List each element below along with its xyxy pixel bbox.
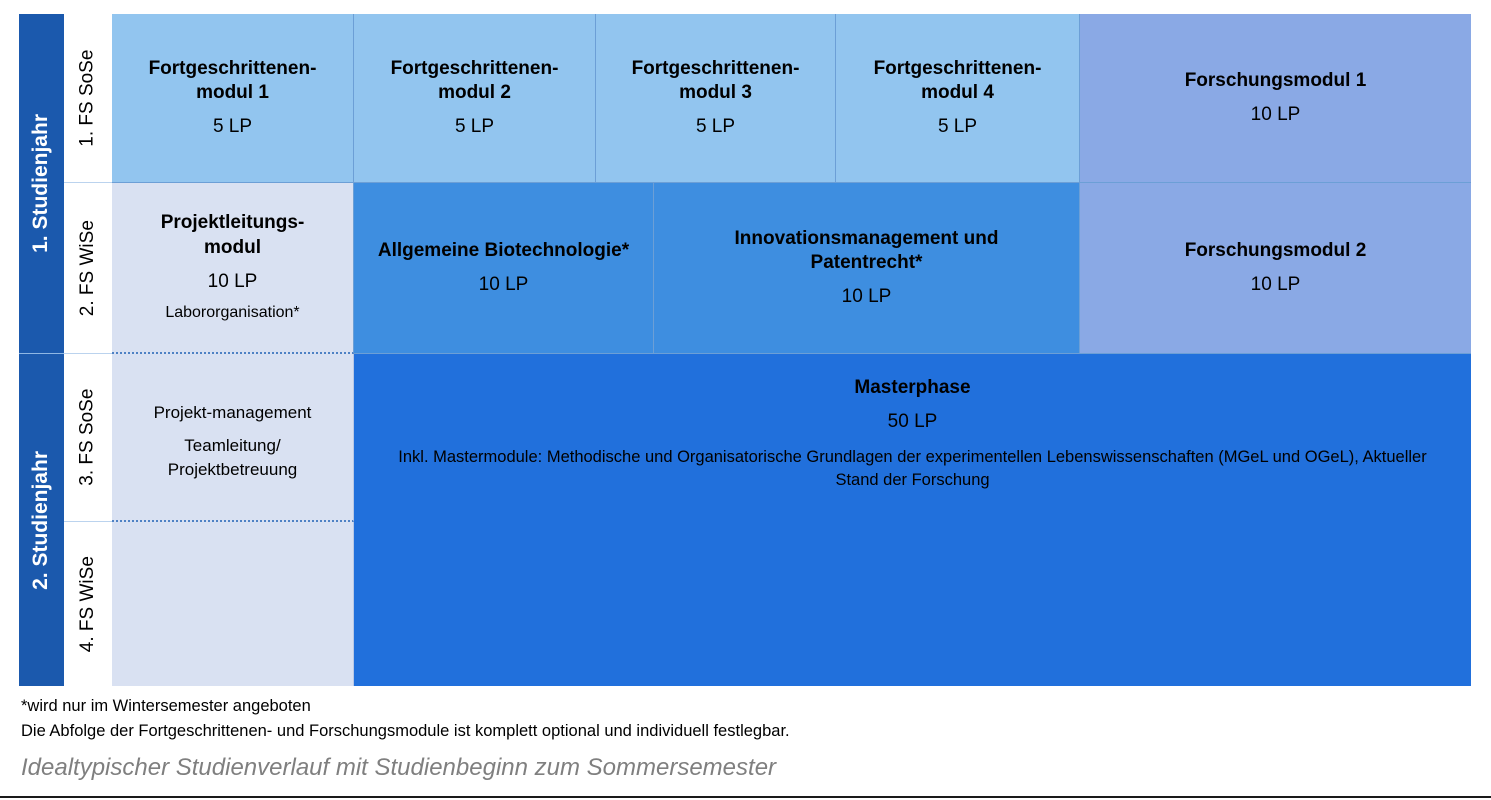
module-credits: 10 LP [834,285,900,309]
module-credits: 10 LP [1243,103,1309,127]
semester-label-2: 2. FS WiSe [64,183,112,354]
module-cell-projektmanagement[interactable]: Projekt-management Teamleitung/ Projektb… [112,354,354,522]
bottom-divider [0,796,1491,798]
module-title: Fortgeschrittenen- modul 3 [624,57,808,106]
footnote-line-2: Die Abfolge der Fortgeschrittenen- und F… [21,719,1421,744]
semester-label-2-text: 2. FS WiSe [76,220,100,316]
module-title: Masterphase [846,376,978,400]
chart-caption: Idealtypischer Studienverlauf mit Studie… [21,754,776,782]
module-title: Fortgeschrittenen- modul 2 [383,57,567,106]
module-cell-empty-bottom-left [112,522,354,686]
year-label-1-text: 1. Studienjahr [28,114,55,253]
module-credits: 10 LP [471,273,537,297]
projektmanagement-line-2: Teamleitung/ Projektbetreuung [154,434,311,482]
module-cell-fortgeschrittenenmodul-2[interactable]: Fortgeschrittenen- modul 2 5 LP [354,14,596,183]
study-plan-page: 1. Studienjahr 2. Studienjahr 1. FS SoSe… [0,0,1491,800]
module-cell-fortgeschrittenenmodul-4[interactable]: Fortgeschrittenen- modul 4 5 LP [836,14,1080,183]
module-credits: 5 LP [205,115,260,139]
year-label-2-text: 2. Studienjahr [28,451,55,590]
semester-label-1: 1. FS SoSe [64,14,112,183]
module-title: Projektleitungs- modul [153,211,313,260]
module-title: Innovationsmanagement und Patentrecht* [727,227,1007,276]
semester-label-4-text: 4. FS WiSe [76,556,100,652]
module-credits: 10 LP [1243,273,1309,297]
module-title: Fortgeschrittenen- modul 1 [141,57,325,106]
year-label-1: 1. Studienjahr [19,14,64,354]
semester-label-1-text: 1. FS SoSe [76,49,100,146]
study-plan-chart: 1. Studienjahr 2. Studienjahr 1. FS SoSe… [19,14,1471,686]
module-cell-allgemeine-biotechnologie[interactable]: Allgemeine Biotechnologie* 10 LP [354,183,654,354]
module-credits: 5 LP [447,115,502,139]
module-cell-masterphase[interactable]: Masterphase 50 LP Inkl. Mastermodule: Me… [354,354,1471,686]
module-credits: 5 LP [930,115,985,139]
module-cell-fortgeschrittenenmodul-3[interactable]: Fortgeschrittenen- modul 3 5 LP [596,14,836,183]
semester-label-3: 3. FS SoSe [64,354,112,522]
module-cell-fortgeschrittenenmodul-1[interactable]: Fortgeschrittenen- modul 1 5 LP [112,14,354,183]
module-title: Forschungsmodul 2 [1177,239,1375,263]
module-cell-innovationsmanagement-patentrecht[interactable]: Innovationsmanagement und Patentrecht* 1… [654,183,1080,354]
module-credits: 5 LP [688,115,743,139]
module-cell-forschungsmodul-1[interactable]: Forschungsmodul 1 10 LP [1080,14,1471,183]
module-cell-projektleitungsmodul[interactable]: Projektleitungs- modul 10 LP Labororgani… [112,183,354,354]
module-credits: 10 LP [200,270,266,294]
module-credits: 50 LP [880,410,946,434]
module-title: Allgemeine Biotechnologie* [370,239,637,263]
module-title: Forschungsmodul 1 [1177,69,1375,93]
module-title: Fortgeschrittenen- modul 4 [866,57,1050,106]
footnotes: *wird nur im Wintersemester angeboten Di… [21,694,1421,744]
projektmanagement-line-1: Projekt-management [140,401,326,425]
module-note: Labororganisation* [157,303,307,323]
year-label-2: 2. Studienjahr [19,354,64,686]
semester-label-4: 4. FS WiSe [64,522,112,686]
module-cell-forschungsmodul-2[interactable]: Forschungsmodul 2 10 LP [1080,183,1471,354]
semester-label-3-text: 3. FS SoSe [76,389,100,486]
footnote-line-1: *wird nur im Wintersemester angeboten [21,694,1421,719]
masterphase-included-modules: Inkl. Mastermodule: Methodische und Orga… [354,446,1471,493]
